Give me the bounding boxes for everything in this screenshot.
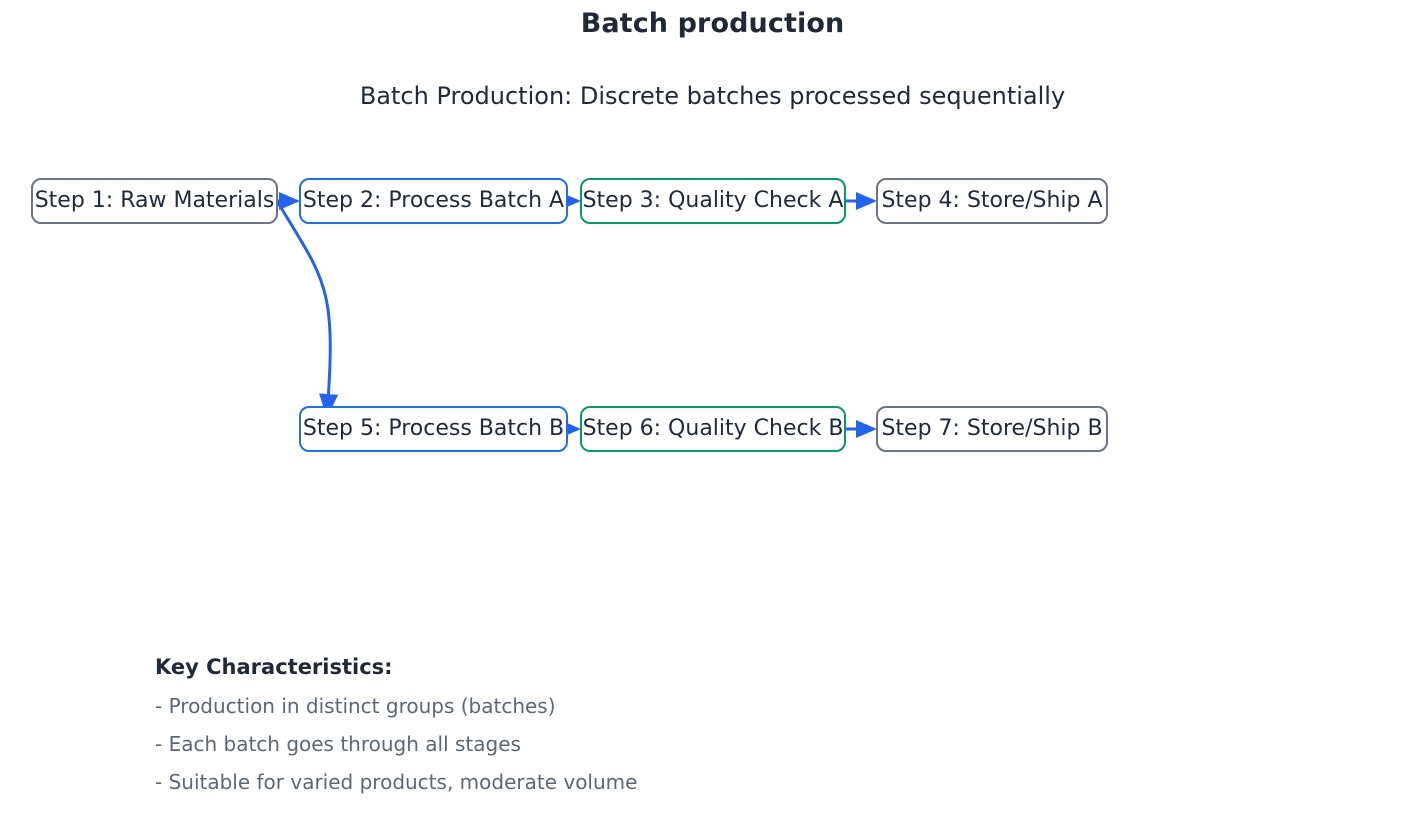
flow-node-step4[interactable]: Step 4: Store/Ship A bbox=[876, 178, 1108, 224]
flow-node-step7[interactable]: Step 7: Store/Ship B bbox=[876, 406, 1108, 452]
key-characteristic-item: - Production in distinct groups (batches… bbox=[155, 694, 556, 718]
key-characteristic-item: - Each batch goes through all stages bbox=[155, 732, 521, 756]
flow-node-label: Step 3: Quality Check A bbox=[583, 190, 844, 212]
flow-node-step1[interactable]: Step 1: Raw Materials bbox=[31, 178, 278, 224]
flow-edge-e4 bbox=[277, 201, 330, 415]
flow-node-label: Step 7: Store/Ship B bbox=[881, 418, 1102, 440]
page-title: Batch production bbox=[0, 8, 1425, 39]
key-characteristic-item: - Suitable for varied products, moderate… bbox=[155, 770, 637, 794]
flow-node-step6[interactable]: Step 6: Quality Check B bbox=[580, 406, 846, 452]
key-characteristics-heading: Key Characteristics: bbox=[155, 655, 393, 679]
flow-node-step5[interactable]: Step 5: Process Batch B bbox=[299, 406, 568, 452]
flow-node-label: Step 4: Store/Ship A bbox=[881, 190, 1102, 212]
diagram-canvas: Batch production Batch Production: Discr… bbox=[0, 0, 1425, 825]
flow-node-label: Step 1: Raw Materials bbox=[35, 190, 275, 212]
flow-node-label: Step 2: Process Batch A bbox=[303, 190, 564, 212]
flow-node-label: Step 5: Process Batch B bbox=[303, 418, 564, 440]
page-subtitle: Batch Production: Discrete batches proce… bbox=[0, 82, 1425, 110]
flow-node-step2[interactable]: Step 2: Process Batch A bbox=[299, 178, 568, 224]
flow-node-step3[interactable]: Step 3: Quality Check A bbox=[580, 178, 846, 224]
flow-node-label: Step 6: Quality Check B bbox=[583, 418, 844, 440]
